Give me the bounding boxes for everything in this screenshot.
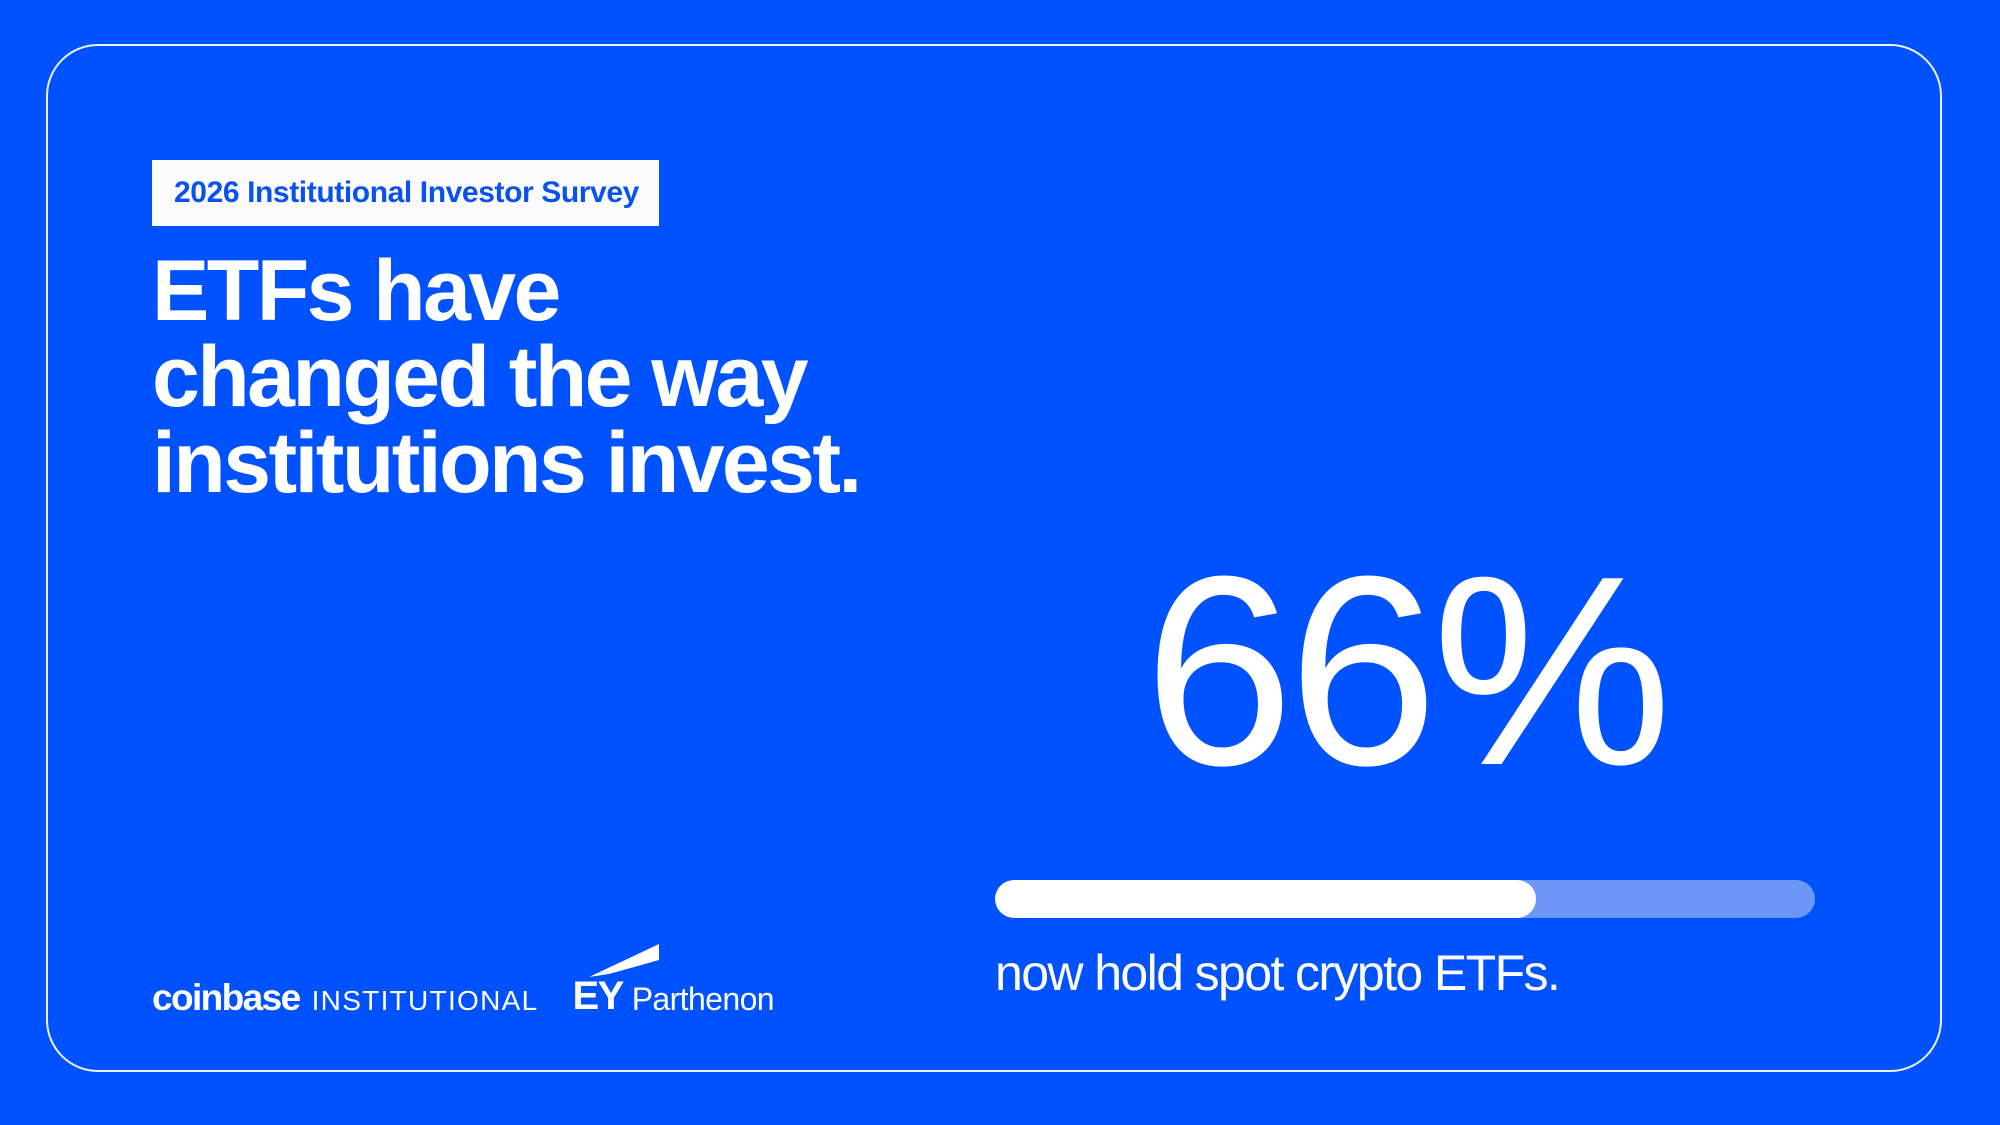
coinbase-institutional-label: INSTITUTIONAL bbox=[312, 987, 539, 1015]
survey-badge: 2026 Institutional Investor Survey bbox=[152, 160, 659, 226]
survey-badge-label: 2026 Institutional Investor Survey bbox=[174, 178, 639, 208]
parthenon-label: Parthenon bbox=[632, 983, 774, 1016]
ey-parthenon-logo: EY Parthenon bbox=[573, 976, 774, 1030]
headline-line-3: institutions invest. bbox=[152, 420, 1012, 506]
stat-value: 66% bbox=[995, 540, 1815, 805]
logo-row: coinbase INSTITUTIONAL EY Parthenon bbox=[152, 940, 774, 1030]
stat-progress-fill bbox=[995, 880, 1536, 918]
headline-line-1: ETFs have bbox=[152, 248, 1012, 334]
stat-block: 66% bbox=[995, 540, 1815, 805]
stat-progress-bar bbox=[995, 880, 1815, 918]
coinbase-wordmark: coinbase bbox=[152, 979, 300, 1016]
ey-beam-icon bbox=[589, 944, 661, 978]
ey-wordmark: EY bbox=[573, 976, 623, 1016]
headline-line-2: changed the way bbox=[152, 334, 1012, 420]
infographic-canvas: 2026 Institutional Investor Survey ETFs … bbox=[0, 0, 2000, 1125]
stat-caption: now hold spot crypto ETFs. bbox=[995, 945, 1815, 1003]
headline: ETFs have changed the way institutions i… bbox=[152, 248, 1012, 506]
coinbase-institutional-logo: coinbase INSTITUTIONAL bbox=[152, 979, 539, 1030]
